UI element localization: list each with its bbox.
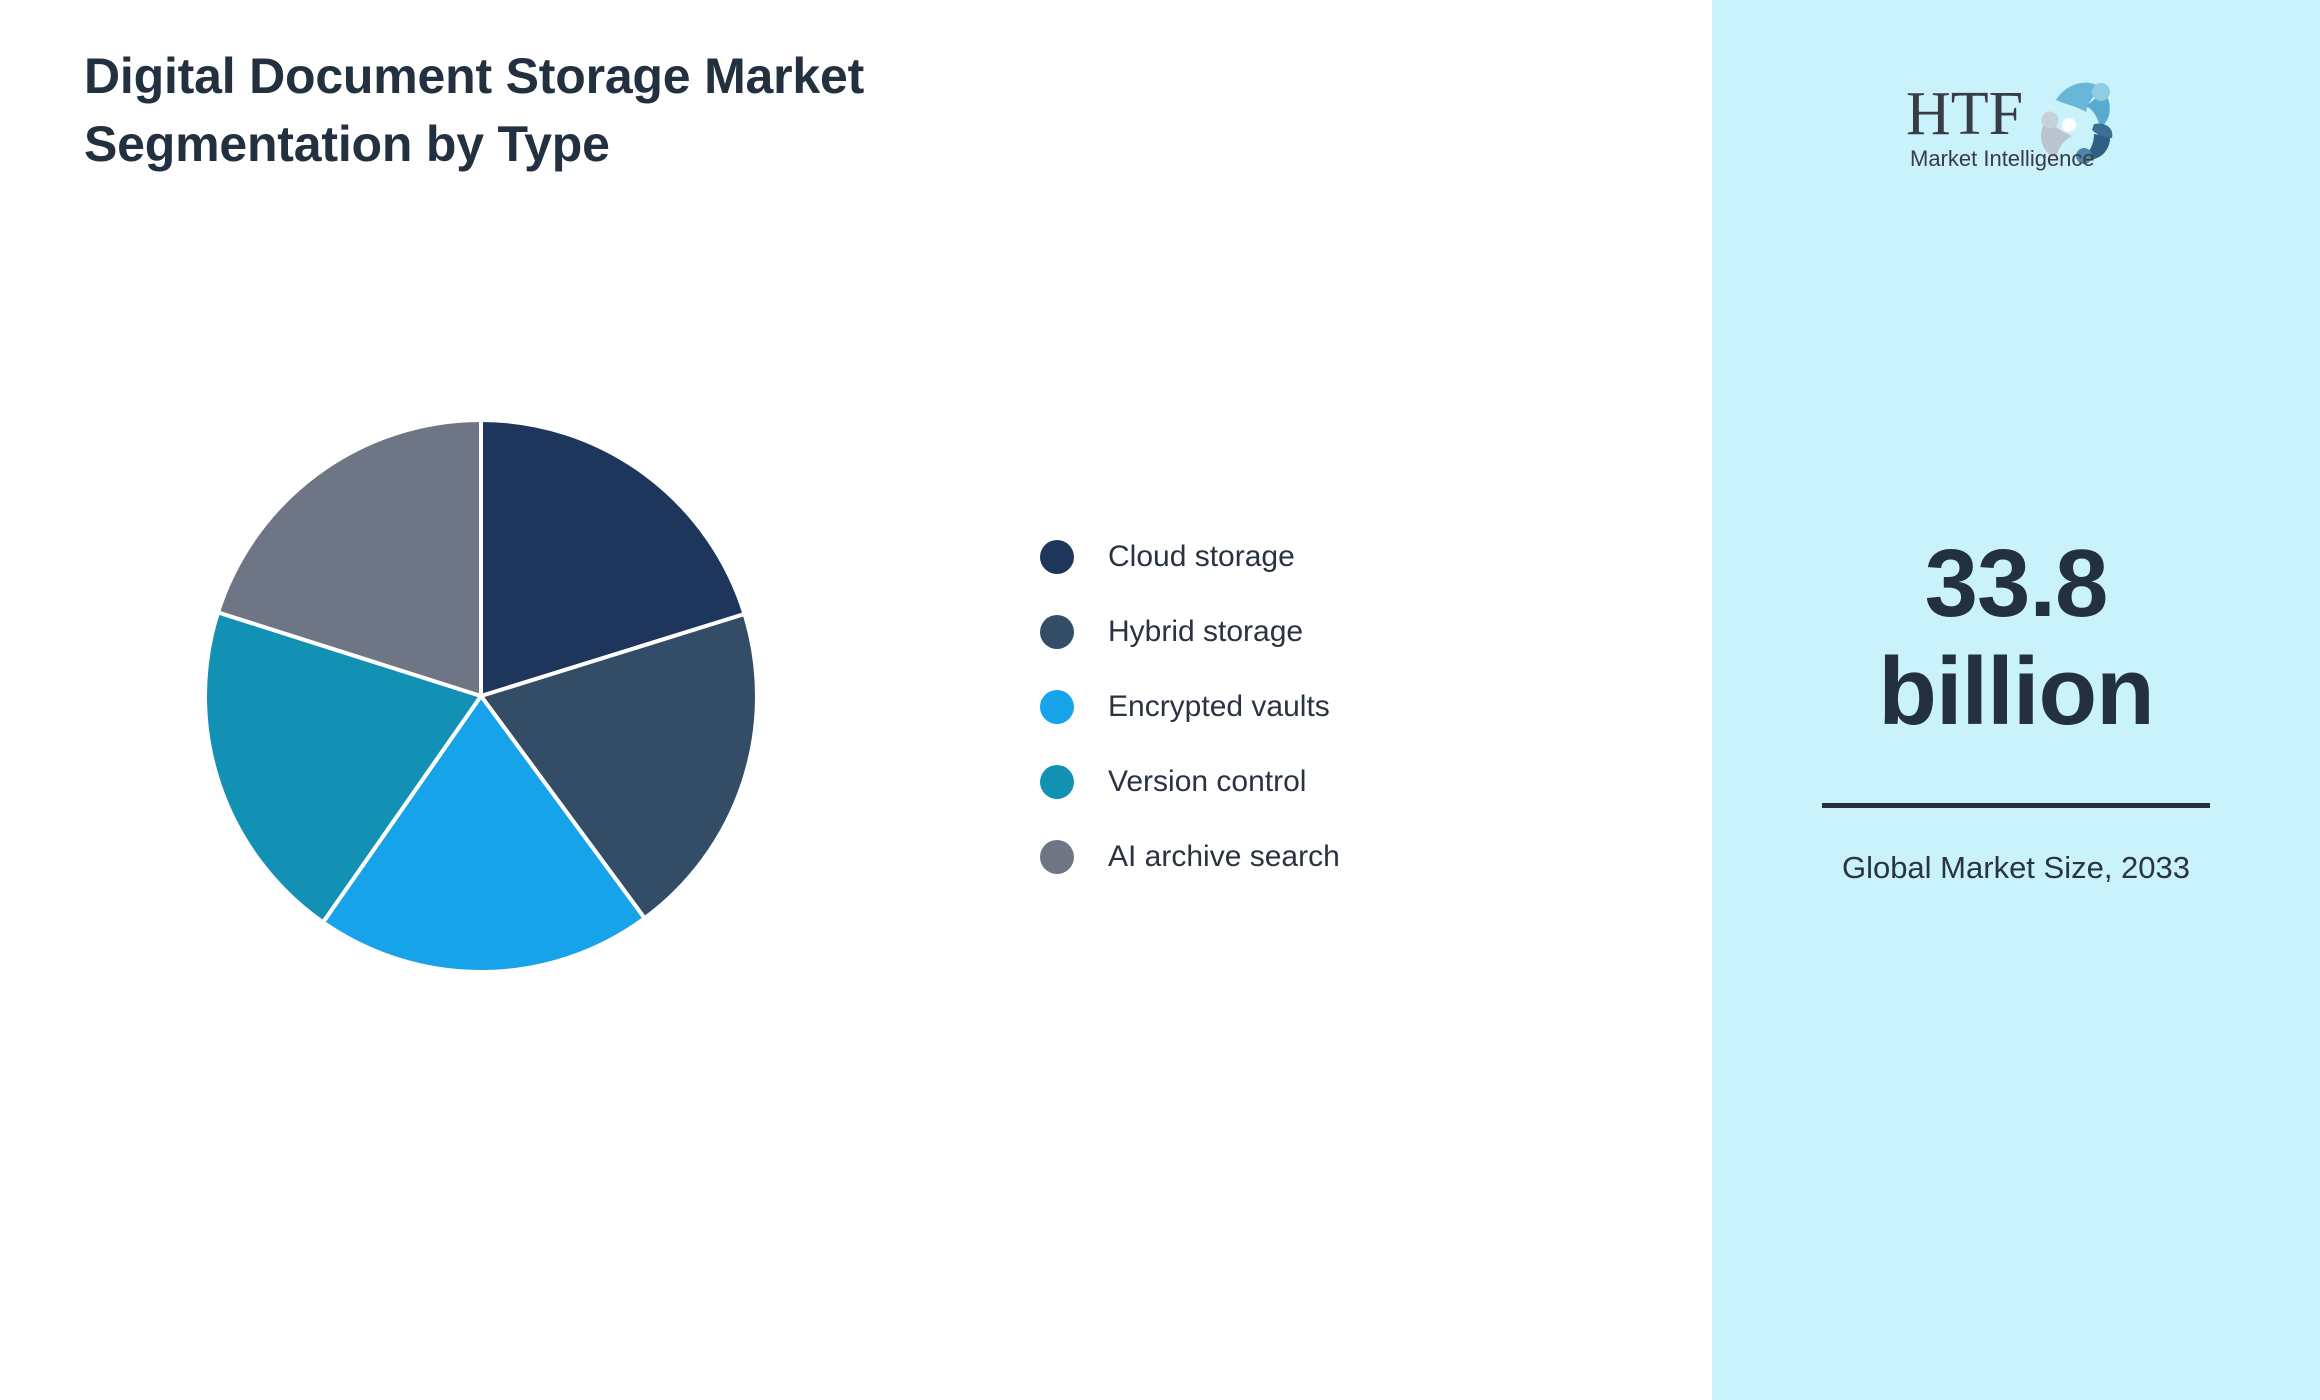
logo-svg: HTF Market Intelligence (1898, 62, 2134, 174)
infographic-canvas: Digital Document Storage Market Segmenta… (0, 0, 2320, 1400)
chart-legend: Cloud storageHybrid storageEncrypted vau… (1040, 519, 1460, 894)
stat-divider (1822, 803, 2210, 808)
stat-value: 33.8 billion (1712, 530, 2320, 745)
legend-item-label: Encrypted vaults (1108, 690, 1330, 724)
legend-item[interactable]: Hybrid storage (1040, 594, 1460, 669)
legend-swatch-icon (1040, 765, 1074, 799)
legend-swatch-icon (1040, 540, 1074, 574)
chart-panel: Digital Document Storage Market Segmenta… (0, 0, 1712, 1400)
stat-block: 33.8 billion Global Market Size, 2033 (1712, 530, 2320, 891)
page-title: Digital Document Storage Market Segmenta… (84, 42, 1134, 178)
legend-swatch-icon (1040, 615, 1074, 649)
legend-item-label: Cloud storage (1108, 540, 1295, 574)
legend-item-label: AI archive search (1108, 840, 1340, 874)
legend-item[interactable]: Encrypted vaults (1040, 669, 1460, 744)
stat-panel: HTF Market Intelligence 33.8 billion Glo… (1712, 0, 2320, 1400)
legend-item[interactable]: Version control (1040, 744, 1460, 819)
stat-caption: Global Market Size, 2033 (1712, 846, 2320, 891)
logo-tagline: Market Intelligence (1910, 146, 2095, 171)
pie-chart-svg (203, 418, 759, 974)
htf-market-intelligence-logo: HTF Market Intelligence (1898, 62, 2134, 174)
legend-item-label: Version control (1108, 765, 1306, 799)
logo-wordmark: HTF (1906, 80, 2023, 148)
pie-chart (203, 418, 759, 974)
legend-item[interactable]: Cloud storage (1040, 519, 1460, 594)
legend-item-label: Hybrid storage (1108, 615, 1303, 649)
legend-swatch-icon (1040, 690, 1074, 724)
legend-item[interactable]: AI archive search (1040, 819, 1460, 894)
legend-swatch-icon (1040, 840, 1074, 874)
